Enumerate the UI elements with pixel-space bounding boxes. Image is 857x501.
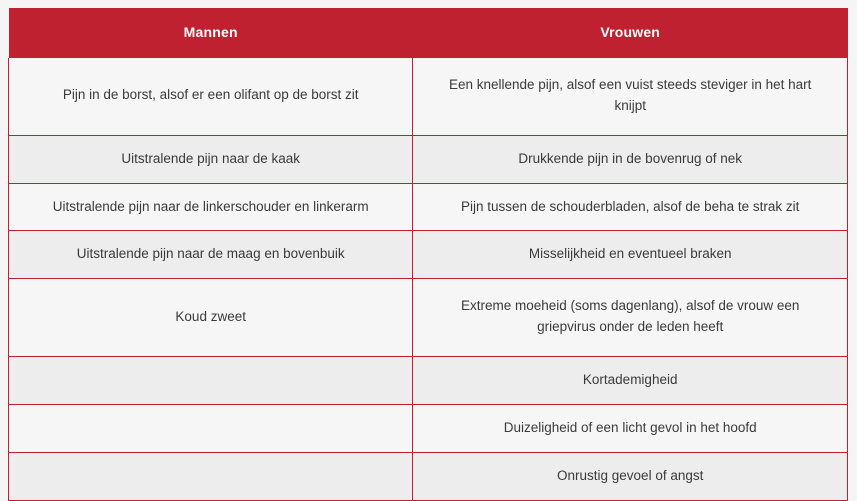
table-row: Onrustig gevoel of angst <box>9 453 848 501</box>
symptom-cell-women: Een knellende pijn, alsof een vuist stee… <box>413 58 848 135</box>
table-header: Mannen Vrouwen <box>9 8 848 58</box>
symptom-cell-women: Pijn tussen de schouderbladen, alsof de … <box>413 183 848 231</box>
table-body: Pijn in de borst, alsof er een olifant o… <box>9 58 848 501</box>
table-row: Uitstralende pijn naar de linkerschouder… <box>9 183 848 231</box>
symptom-cell-men <box>9 405 413 453</box>
symptom-comparison-table-container: Mannen Vrouwen Pijn in de borst, alsof e… <box>8 8 848 443</box>
symptom-cell-men <box>9 453 413 501</box>
symptom-cell-women: Drukkende pijn in de bovenrug of nek <box>413 135 848 183</box>
symptom-cell-women: Misselijkheid en eventueel braken <box>413 231 848 279</box>
symptom-cell-women: Kortademigheid <box>413 357 848 405</box>
symptom-cell-women: Onrustig gevoel of angst <box>413 453 848 501</box>
table-row: Pijn in de borst, alsof er een olifant o… <box>9 58 848 135</box>
symptom-cell-men: Koud zweet <box>9 279 413 357</box>
symptom-comparison-table: Mannen Vrouwen Pijn in de borst, alsof e… <box>8 8 848 501</box>
symptom-cell-men: Pijn in de borst, alsof er een olifant o… <box>9 58 413 135</box>
table-row: Uitstralende pijn naar de kaak Drukkende… <box>9 135 848 183</box>
symptom-cell-women: Extreme moeheid (soms dagenlang), alsof … <box>413 279 848 357</box>
table-header-row: Mannen Vrouwen <box>9 8 848 58</box>
table-row: Duizeligheid of een licht gevol in het h… <box>9 405 848 453</box>
column-header-men: Mannen <box>9 8 413 58</box>
symptom-cell-men <box>9 357 413 405</box>
table-row: Uitstralende pijn naar de maag en bovenb… <box>9 231 848 279</box>
symptom-cell-women: Duizeligheid of een licht gevol in het h… <box>413 405 848 453</box>
table-row: Kortademigheid <box>9 357 848 405</box>
symptom-cell-men: Uitstralende pijn naar de kaak <box>9 135 413 183</box>
symptom-cell-men: Uitstralende pijn naar de linkerschouder… <box>9 183 413 231</box>
symptom-cell-men: Uitstralende pijn naar de maag en bovenb… <box>9 231 413 279</box>
table-row: Koud zweet Extreme moeheid (soms dagenla… <box>9 279 848 357</box>
column-header-women: Vrouwen <box>413 8 848 58</box>
